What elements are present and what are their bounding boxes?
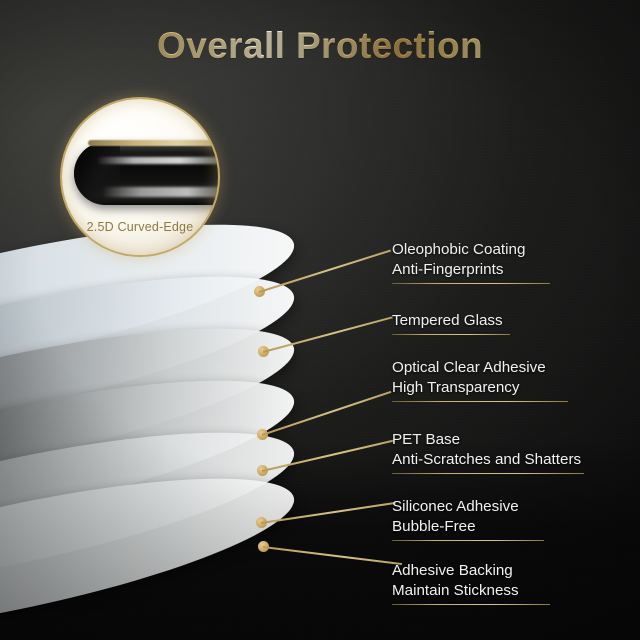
inset-caption: 2.5D Curved-Edge <box>62 220 218 234</box>
callout-line: Maintain Stickness <box>392 581 550 601</box>
callout-tempered-glass: Tempered Glass <box>392 311 510 335</box>
callout-oleophobic-coating: Oleophobic CoatingAnti-Fingerprints <box>392 240 550 284</box>
callout-line: Adhesive Backing <box>392 561 550 581</box>
callout-silicone-adhesive: Siliconec AdhesiveBubble-Free <box>392 497 544 541</box>
screen-protector-layer-stack <box>0 250 360 610</box>
callout-line: Tempered Glass <box>392 311 510 331</box>
phone-edge-highlight-upper <box>96 157 218 164</box>
callout-underline <box>392 401 568 402</box>
page-title: Overall Protection <box>0 26 640 67</box>
callout-line: Oleophobic Coating <box>392 240 550 260</box>
callout-line: Anti-Scratches and Shatters <box>392 450 584 470</box>
callout-adhesive-backing: Adhesive BackingMaintain Stickness <box>392 561 550 605</box>
callout-pet-base: PET BaseAnti-Scratches and Shatters <box>392 430 584 474</box>
curved-edge-inset: 2.5D Curved-Edge <box>62 99 218 255</box>
callout-underline <box>392 540 544 541</box>
callout-line: PET Base <box>392 430 584 450</box>
phone-edge-gold-strip <box>88 140 218 146</box>
phone-edge-highlight-lower <box>102 187 218 197</box>
callout-line: Optical Clear Adhesive <box>392 358 568 378</box>
callout-line: Siliconec Adhesive <box>392 497 544 517</box>
callout-line: Anti-Fingerprints <box>392 260 550 280</box>
infographic-canvas: Overall Protection 2.5D Curved-Edge Oleo… <box>0 0 640 640</box>
callout-underline <box>392 334 510 335</box>
callout-underline <box>392 473 584 474</box>
callout-line: Bubble-Free <box>392 517 544 537</box>
callout-underline <box>392 283 550 284</box>
callout-optical-clear-adhesive: Optical Clear AdhesiveHigh Transparency <box>392 358 568 402</box>
callout-line: High Transparency <box>392 378 568 398</box>
callout-underline <box>392 604 550 605</box>
